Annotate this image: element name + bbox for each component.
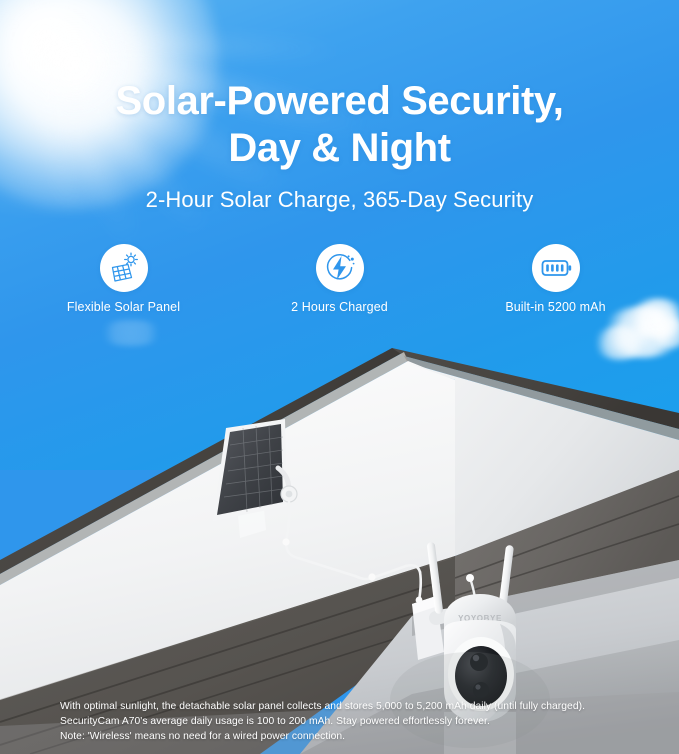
cable-clip bbox=[282, 538, 289, 545]
product-hero-image: YOYOBYE Solar-Powered Security, Day & Ni… bbox=[0, 0, 679, 754]
page-title: Solar-Powered Security, Day & Night bbox=[0, 78, 679, 172]
feature-label: Built-in 5200 mAh bbox=[480, 300, 632, 314]
disclaimer-line-3: Note: 'Wireless' means no need for a wir… bbox=[60, 729, 585, 744]
lightning-bolt-icon bbox=[323, 251, 357, 285]
disclaimer-text: With optimal sunlight, the detachable so… bbox=[60, 699, 585, 744]
cable-clip bbox=[368, 573, 375, 580]
fast-charge-badge bbox=[316, 244, 364, 292]
hero-text-block: Solar-Powered Security, Day & Night 2-Ho… bbox=[0, 0, 679, 214]
headline-line-1: Solar-Powered Security, bbox=[0, 78, 679, 125]
battery-icon bbox=[539, 251, 573, 285]
solar-panel-pivot-center bbox=[286, 491, 293, 498]
cable-anchor bbox=[466, 574, 474, 582]
solar-panel-icon bbox=[107, 251, 141, 285]
feature-fast-charge: 2 Hours Charged bbox=[264, 244, 416, 314]
disclaimer-line-2: SecurityCam A70's average daily usage is… bbox=[60, 714, 585, 729]
disclaimer-line-1: With optimal sunlight, the detachable so… bbox=[60, 699, 585, 714]
page-subtitle: 2-Hour Solar Charge, 365-Day Security bbox=[0, 186, 679, 214]
feature-list: Flexible Solar Panel 2 Hours Charged bbox=[0, 244, 679, 314]
battery-badge bbox=[532, 244, 580, 292]
feature-label: 2 Hours Charged bbox=[264, 300, 416, 314]
feature-battery: Built-in 5200 mAh bbox=[480, 244, 632, 314]
feature-solar-panel: Flexible Solar Panel bbox=[48, 244, 200, 314]
headline-line-2: Day & Night bbox=[0, 125, 679, 172]
feature-label: Flexible Solar Panel bbox=[48, 300, 200, 314]
solar-panel-badge bbox=[100, 244, 148, 292]
